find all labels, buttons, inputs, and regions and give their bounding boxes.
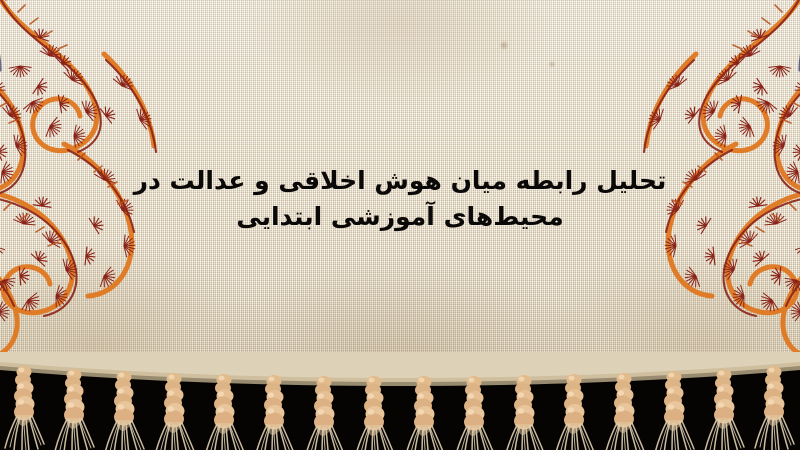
slide-title: تحلیل رابطه میان هوش اخلاقی و عدالت در م… [0,163,800,235]
title-line-2: محیط‌های آموزشی ابتدایی [120,199,680,235]
tassel-item [5,366,44,450]
tassel-item [55,369,94,450]
tassel-item [355,376,394,450]
title-slide: تحلیل رابطه میان هوش اخلاقی و عدالت در م… [0,0,800,450]
tassel-item [405,376,444,450]
tassel-item [755,366,794,450]
tassel-item [155,373,194,450]
tassel-item [505,375,544,450]
tassel-item [605,373,644,450]
tassel-item [455,376,494,450]
tassel-item [205,374,244,450]
tassel-item [655,371,694,450]
textile-hem-shading [0,416,800,450]
tassel-item [105,371,144,450]
title-line-1: تحلیل رابطه میان هوش اخلاقی و عدالت در [120,163,680,199]
tassel-item [555,374,594,450]
tassel-item [255,375,294,450]
tassel-item [705,369,744,450]
tassel-item [305,376,344,450]
